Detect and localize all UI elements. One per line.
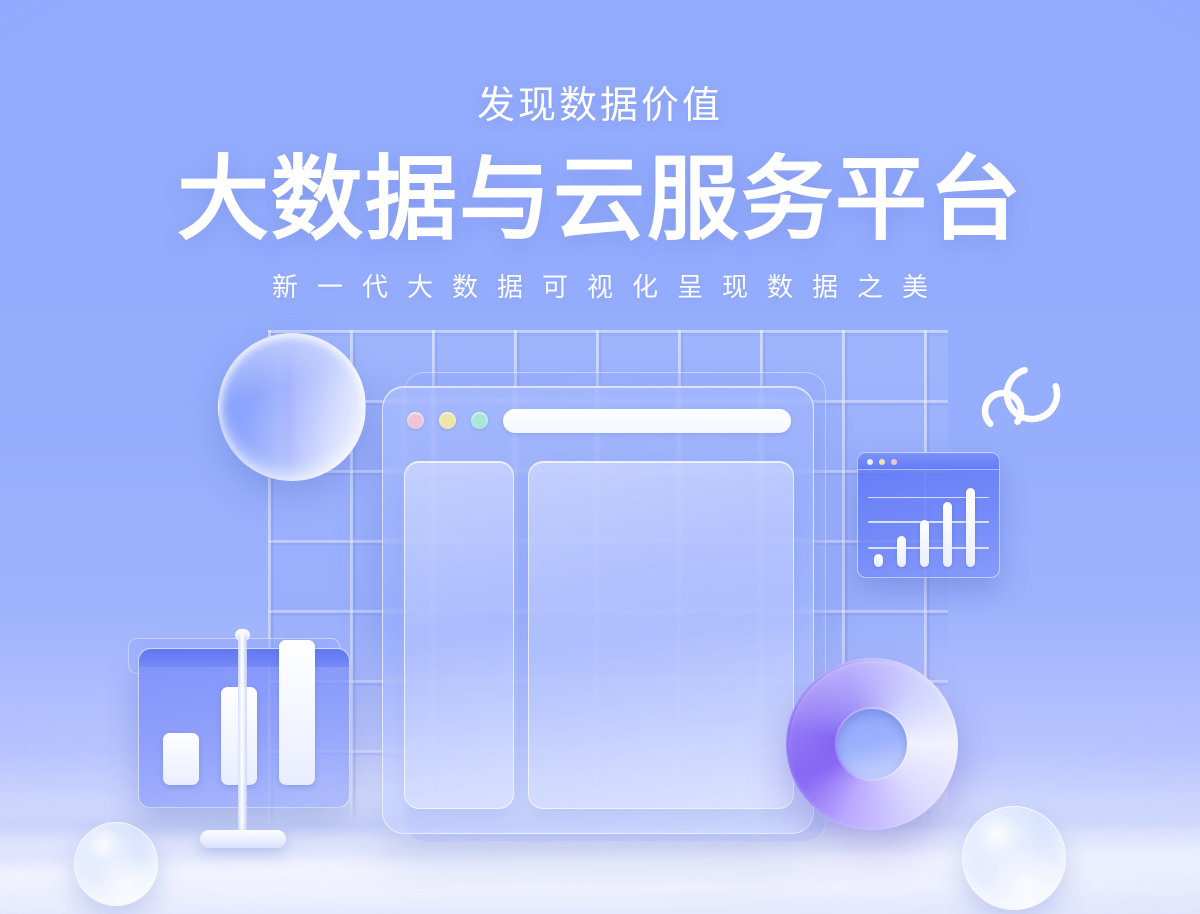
tagline-text: 新一代大数据可视化呈现数据之美 [0, 267, 1200, 304]
headline-block: 发现数据价值 大数据与云服务平台 新一代大数据可视化呈现数据之美 [0, 84, 1200, 304]
close-dot[interactable] [867, 459, 873, 465]
glass-disc [218, 333, 366, 481]
mini-chart-window[interactable] [857, 452, 1000, 578]
glass-sphere-right [962, 806, 1066, 910]
maximize-dot[interactable] [891, 459, 897, 465]
sidebar-pane[interactable] [404, 461, 514, 809]
bar-1 [874, 554, 883, 567]
bar-4 [943, 502, 952, 567]
content-pane[interactable] [528, 461, 794, 809]
browser-mockup[interactable] [382, 386, 814, 834]
bar-2 [897, 536, 906, 567]
bar-3 [279, 640, 315, 785]
stand-base [200, 830, 286, 848]
close-dot[interactable] [407, 412, 424, 429]
torus-inner-hole [837, 709, 907, 779]
eyebrow-text: 发现数据价值 [0, 84, 1200, 130]
bar-5 [966, 488, 975, 567]
mini-window-title-bar [858, 453, 999, 470]
browser-title-bar [383, 387, 813, 449]
cloud-icon [976, 364, 1068, 438]
stand-pole [238, 634, 247, 842]
minimize-dot[interactable] [879, 459, 885, 465]
bar-1 [163, 733, 199, 785]
bar-3 [920, 520, 929, 567]
address-bar[interactable] [503, 409, 791, 433]
minimize-dot[interactable] [439, 412, 456, 429]
glass-sphere-left [74, 822, 158, 906]
mini-window-bar-chart [868, 477, 989, 567]
page-title: 大数据与云服务平台 [0, 154, 1200, 248]
banner-stage: 发现数据价值 大数据与云服务平台 新一代大数据可视化呈现数据之美 [0, 0, 1200, 914]
maximize-dot[interactable] [471, 412, 488, 429]
